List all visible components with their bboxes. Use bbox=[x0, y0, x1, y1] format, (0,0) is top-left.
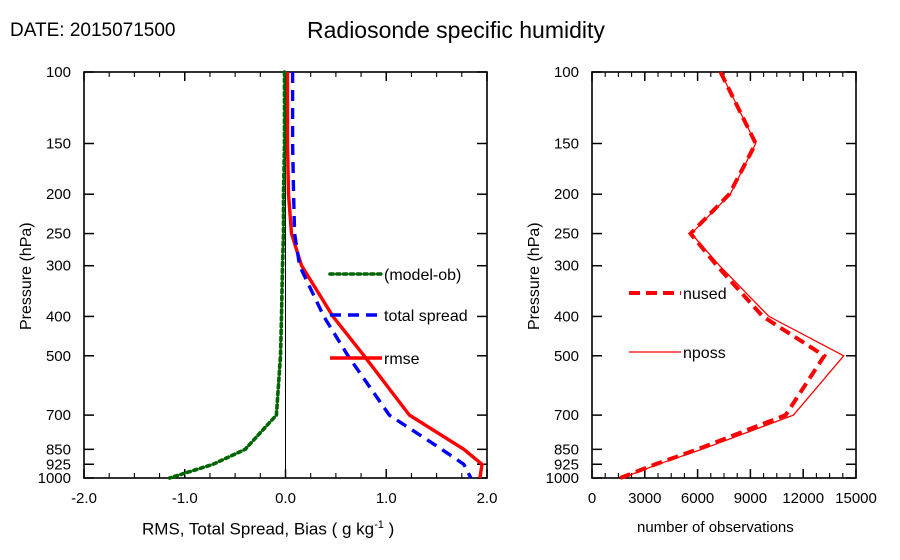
y-tick-label: 400 bbox=[554, 308, 579, 325]
right-plot-group: 0300060009000120001500010015020025030040… bbox=[546, 64, 877, 507]
y-tick-label: 100 bbox=[554, 64, 579, 81]
y-tick-label: 250 bbox=[554, 226, 579, 243]
y-tick-label: 150 bbox=[554, 135, 579, 152]
y-tick-label: 500 bbox=[46, 348, 71, 365]
x-tick-label: 6000 bbox=[681, 490, 714, 507]
figure-root: DATE: 2015071500 Radiosonde specific hum… bbox=[0, 0, 900, 560]
y-tick-label: 700 bbox=[554, 407, 579, 424]
y-tick-label: 1000 bbox=[546, 470, 579, 487]
y-tick-label: 200 bbox=[46, 186, 71, 203]
x-tick-label: 15000 bbox=[835, 490, 877, 507]
x-tick-label: 3000 bbox=[628, 490, 661, 507]
y-tick-label: 1000 bbox=[38, 470, 71, 487]
y-tick-label: 200 bbox=[554, 186, 579, 203]
x-tick-label: 9000 bbox=[734, 490, 767, 507]
y-tick-label: 100 bbox=[46, 64, 71, 81]
x-tick-label: 0 bbox=[588, 490, 596, 507]
plot-canvas: -2.0-1.00.01.02.010015020025030040050070… bbox=[0, 0, 900, 560]
legend-label-nposs: nposs bbox=[683, 345, 726, 362]
x-tick-label: 0.0 bbox=[275, 490, 296, 507]
y-tick-label: 300 bbox=[46, 258, 71, 275]
series--model-ob- bbox=[170, 72, 285, 478]
left-plot-group: -2.0-1.00.01.02.010015020025030040050070… bbox=[38, 64, 498, 507]
y-tick-label: 150 bbox=[46, 135, 71, 152]
legend-label-bias: (model-ob) bbox=[384, 267, 461, 284]
y-tick-label: 300 bbox=[554, 258, 579, 275]
x-tick-label: 12000 bbox=[782, 490, 824, 507]
y-tick-label: 250 bbox=[46, 226, 71, 243]
legend-label-nused: nused bbox=[683, 286, 727, 303]
x-tick-label: 1.0 bbox=[376, 490, 397, 507]
x-tick-label: -2.0 bbox=[71, 490, 97, 507]
y-tick-label: 500 bbox=[554, 348, 579, 365]
y-tick-label: 700 bbox=[46, 407, 71, 424]
x-tick-label: 2.0 bbox=[477, 490, 498, 507]
legend-label-total-spread: total spread bbox=[384, 308, 468, 325]
legend-label-rmse: rmse bbox=[384, 351, 420, 368]
x-tick-label: -1.0 bbox=[172, 490, 198, 507]
series-nused bbox=[620, 72, 824, 478]
series-nposs bbox=[622, 72, 844, 478]
y-tick-label: 400 bbox=[46, 308, 71, 325]
